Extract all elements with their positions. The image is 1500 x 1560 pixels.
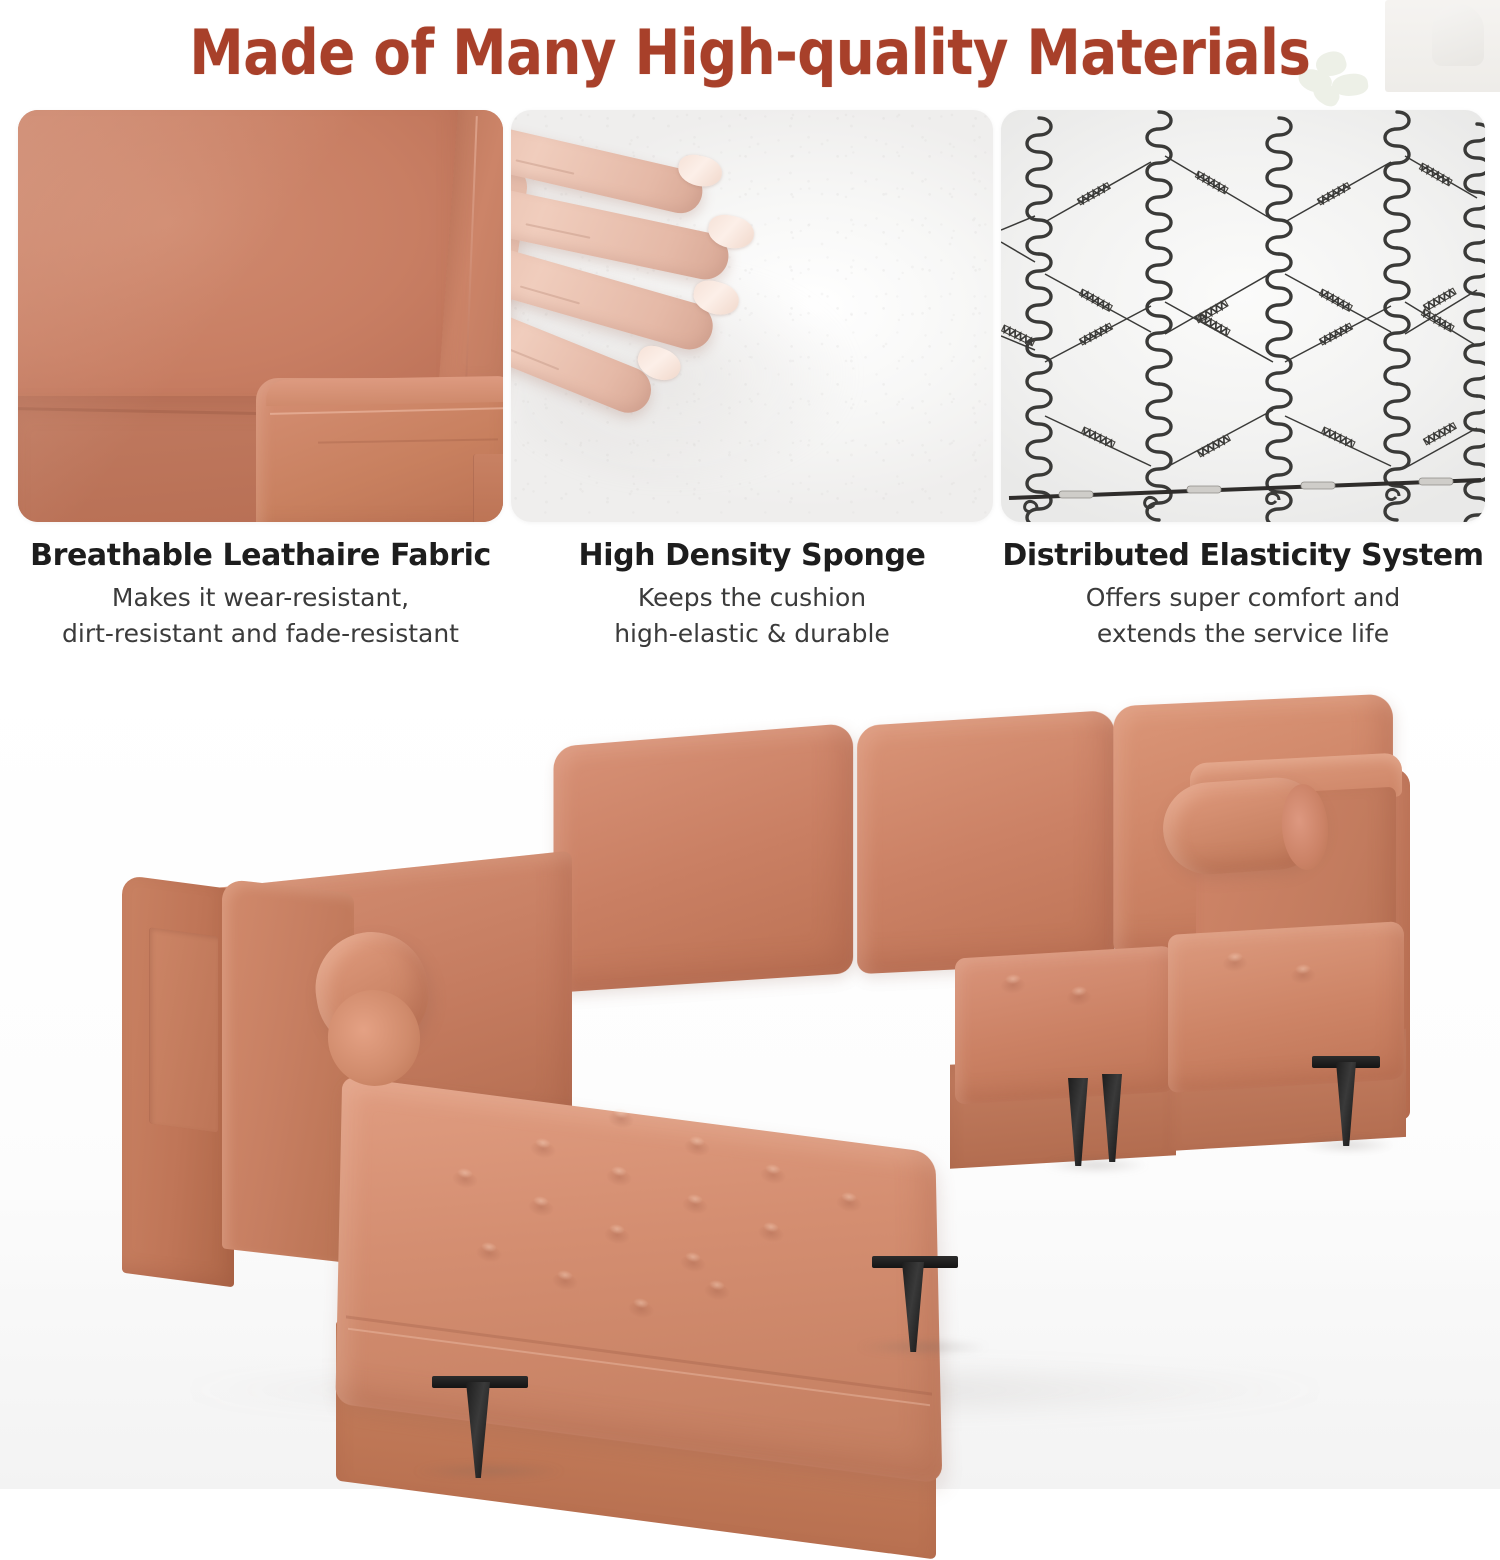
leg-contact-shadow xyxy=(1044,1158,1148,1172)
hand-pressing-sponge xyxy=(511,132,825,512)
caption-description: Makes it wear-resistant, dirt-resistant … xyxy=(18,580,503,652)
caption-title: High Density Sponge xyxy=(511,536,993,576)
feature-image-elasticity-system xyxy=(1001,110,1485,522)
feature-image-panels xyxy=(0,110,1500,522)
caption-description-line-2: dirt-resistant and fade-resistant xyxy=(18,616,503,652)
sponge-photo xyxy=(511,110,993,522)
caption-high-density-sponge: High Density Sponge Keeps the cushion hi… xyxy=(511,536,993,652)
leathaire-fabric-photo xyxy=(18,110,503,522)
page-title: Made of Many High-quality Materials xyxy=(0,0,1500,104)
caption-description-line-1: Offers super comfort and xyxy=(1001,580,1485,616)
spring-system-photo xyxy=(1001,110,1485,522)
sofa-back-cushion-2 xyxy=(857,710,1115,974)
caption-description: Keeps the cushion high-elastic & durable xyxy=(511,580,993,652)
sofa-side-storage-pocket xyxy=(150,928,218,1133)
hero-product-image xyxy=(0,660,1500,1489)
sofa-seat-cushion-middle xyxy=(955,945,1175,1104)
caption-title: Breathable Leathaire Fabric xyxy=(18,536,503,576)
leg-contact-shadow xyxy=(414,1464,564,1478)
fabric-gloss-highlight xyxy=(18,110,503,522)
page-title-text: Made of Many High-quality Materials xyxy=(190,16,1311,89)
caption-description-line-2: extends the service life xyxy=(1001,616,1485,652)
feature-image-leathaire-fabric xyxy=(18,110,503,522)
feature-image-high-density-sponge xyxy=(511,110,993,522)
caption-elasticity-system: Distributed Elasticity System Offers sup… xyxy=(1001,536,1485,652)
caption-description-line-2: high-elastic & durable xyxy=(511,616,993,652)
leg-contact-shadow xyxy=(858,1340,988,1354)
caption-description-line-1: Keeps the cushion xyxy=(511,580,993,616)
serpentine-spring-diagram xyxy=(1001,110,1485,522)
sofa-left-armrest-inner xyxy=(222,878,354,1263)
caption-description: Offers super comfort and extends the ser… xyxy=(1001,580,1485,652)
caption-title: Distributed Elasticity System xyxy=(1001,536,1485,576)
feature-captions: Breathable Leathaire Fabric Makes it wea… xyxy=(0,536,1500,666)
caption-description-line-1: Makes it wear-resistant, xyxy=(18,580,503,616)
caption-leathaire-fabric: Breathable Leathaire Fabric Makes it wea… xyxy=(18,536,503,652)
sofa-back-cushion-1 xyxy=(554,723,854,993)
